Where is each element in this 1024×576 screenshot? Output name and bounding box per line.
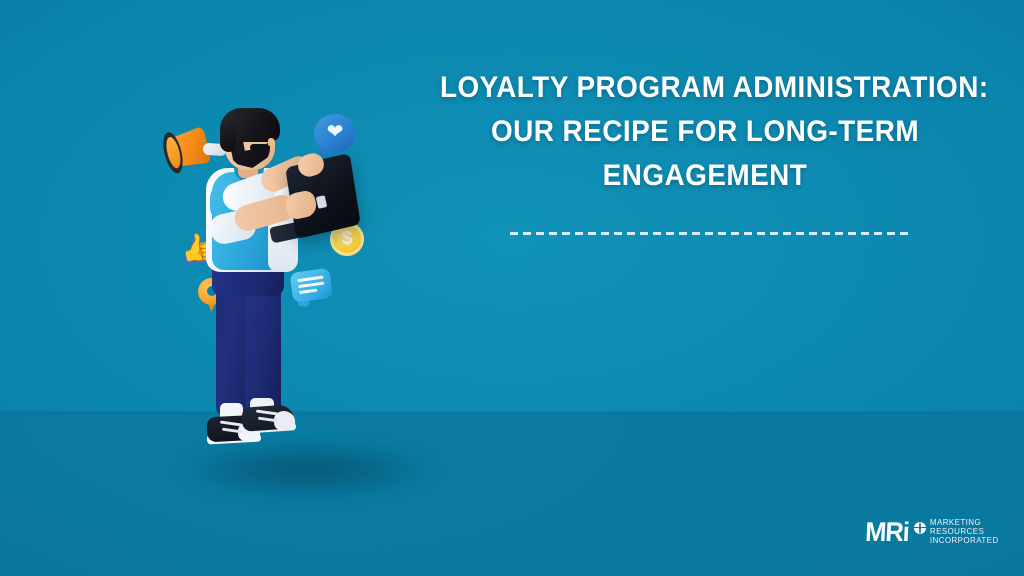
character-illustration: ❤ $ 👍 xyxy=(150,100,390,460)
headline-line-1: LOYALTY PROGRAM ADMINISTRATION: xyxy=(440,66,970,110)
headline-divider xyxy=(510,232,910,235)
logo-tagline-line-2: RESOURCES xyxy=(930,528,999,536)
character-eye xyxy=(260,136,265,142)
logo-tagline-line-1: MARKETING xyxy=(930,519,999,527)
heart-speech-bubble-icon: ❤ xyxy=(314,114,360,160)
headline-line-3: ENGAGEMENT xyxy=(440,154,970,198)
headline-line-2: OUR RECIPE FOR LONG-TERM xyxy=(440,110,970,154)
banner-canvas: ❤ $ 👍 xyxy=(0,0,1024,576)
character-eyebrow xyxy=(258,131,268,134)
chat-bubble-icon xyxy=(289,267,338,313)
logo-tagline: MARKETING RESOURCES INCORPORATED xyxy=(930,519,999,545)
globe-icon xyxy=(914,522,926,534)
logo-wordmark: MRi xyxy=(864,518,909,546)
character-hair-side xyxy=(220,122,236,152)
logo-tagline-line-3: INCORPORATED xyxy=(930,537,999,545)
character-mustache xyxy=(250,144,268,151)
headline-block: LOYALTY PROGRAM ADMINISTRATION: OUR RECI… xyxy=(420,66,990,198)
company-logo[interactable]: MRi MARKETING RESOURCES INCORPORATED xyxy=(864,518,999,546)
